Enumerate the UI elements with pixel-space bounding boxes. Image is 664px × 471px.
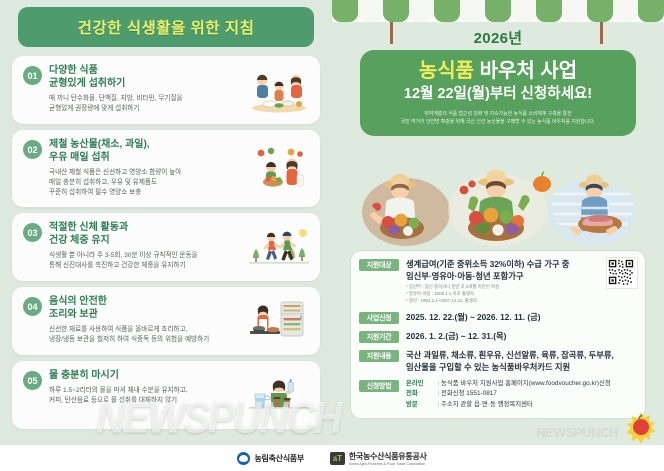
awning-stripe: [511, 0, 537, 22]
info-row-support-target: 지원대상 생계급여(기준 중위소득 32%이하) 수급 가구 중 임신부·영유아…: [359, 258, 637, 305]
apply-value-visit: 주소지 관할 읍·면·동 행정복지센터: [441, 400, 637, 410]
awning-stripe: [562, 0, 588, 22]
guideline-number-04: 04: [23, 297, 42, 316]
guideline-text-01: 다양한 식품 균형있게 섭취하기 매 끼니 탄수화물, 단백질, 지방, 비타민…: [49, 64, 243, 114]
guideline-list: 01 다양한 식품 균형있게 섭취하기 매 끼니 탄수화물, 단백질, 지방, …: [12, 56, 320, 429]
guideline-text-03: 적절한 신체 활동과 건강 체중 유지 식생활 뿐 아니라 주 3-5회, 30…: [49, 221, 243, 271]
family-eating-icon: [247, 67, 311, 113]
logo-at-name: 한국농수산식품유통공사: [349, 452, 427, 461]
campaign-title: 농식품 바우처 사업: [368, 59, 628, 83]
guideline-item-02: 02 제철 농산물(채소, 과일), 우유 매일 섭취 국내산 제철 식품은 신…: [12, 130, 320, 207]
guideline-title-02: 제철 농산물(채소, 과일), 우유 매일 섭취: [49, 138, 243, 164]
drinking-water-icon: [247, 372, 311, 418]
awning-stripe: [460, 0, 486, 22]
info-value-how-to-apply: 온라인 | 농식품 바우처 지원사업 홈페이지(www.foodvoucher.…: [406, 379, 637, 411]
awning-decoration: [332, 0, 664, 22]
info-note: * 임산부 : 임신 중이거나 분만 후 6개월 미만인 여성: [406, 284, 637, 291]
guideline-number-02: 02: [23, 140, 42, 159]
guideline-item-03: 03 적절한 신체 활동과 건강 체중 유지 식생활 뿐 아니라 주 3-5회,…: [12, 213, 320, 281]
cooking-refrigerator-icon: [247, 298, 311, 344]
info-main-support-target: 생계급여(기준 중위소득 32%이하) 수급 가구 중 임신부·영유아·아동·청…: [406, 258, 637, 282]
guideline-body-02: 국내산 제철 식품은 신선하고 영양소 함량이 높아 매일 충분히 섭취하고, …: [49, 168, 243, 198]
awning-stripe: [536, 0, 562, 22]
guideline-title-01: 다양한 식품 균형있게 섭취하기: [49, 64, 243, 90]
awning-stripe: [613, 0, 639, 22]
info-notes-support-target: * 임산부 : 임신 중이거나 분만 후 6개월 미만인 여성 * 영유아·아동…: [406, 284, 637, 304]
awning-stripe: [358, 0, 384, 22]
info-value-support-content: 국산 과일류, 채소류, 흰우유, 신선알류, 육류, 잡곡류, 두부류, 임산…: [406, 349, 637, 373]
campaign-title-box: 농식품 바우처 사업 12월 22일(월)부터 신청하세요! 취약계층의 식품 …: [360, 50, 636, 136]
taegeuk-icon: [237, 452, 250, 465]
info-label-support-content: 지원내용: [359, 350, 399, 362]
guideline-title-05: 물 충분히 마시기: [49, 369, 243, 382]
campaign-subtitle: 12월 22일(월)부터 신청하세요!: [368, 86, 628, 103]
guideline-title-03: 적절한 신체 활동과 건강 체중 유지: [49, 221, 243, 247]
program-info-card: 지원대상 생계급여(기준 중위소득 32%이하) 수급 가구 중 임신부·영유아…: [350, 250, 646, 419]
campaign-title-rest: 바우처 사업: [474, 60, 577, 82]
left-panel-title: 건강한 식생활을 위한 지침: [78, 16, 255, 38]
guideline-number-03: 03: [23, 223, 42, 242]
guideline-body-05: 하루 1.5~2리터의 물을 마셔 체내 수분을 유지하고, 커피, 탄산음료 …: [49, 386, 243, 406]
awning-scallops: [332, 0, 664, 22]
logo-ministry-label: 농림축산식품부: [254, 453, 303, 464]
info-label-support-target: 지원대상: [359, 259, 399, 271]
info-row-support-content: 지원내용 국산 과일류, 채소류, 흰우유, 신선알류, 육류, 잡곡류, 두부…: [359, 349, 637, 373]
logo-ministry-of-agriculture: 농림축산식품부: [237, 452, 303, 465]
logo-at-subtitle: Korea Agro-Fisheries & Food Trade Corpor…: [349, 462, 427, 466]
logo-at-corporation: aT 한국농수산식품유통공사 Korea Agro-Fisheries & Fo…: [330, 451, 427, 466]
apply-kind-visit: 방문: [406, 400, 436, 410]
campaign-year: 2026년: [332, 27, 664, 48]
left-panel-header: 건강한 식생활을 위한 지침: [18, 7, 314, 47]
campaign-title-highlight: 농식품: [419, 60, 474, 82]
apply-line-online: 온라인 | 농식품 바우처 지원사업 홈페이지(www.foodvoucher.…: [406, 379, 637, 389]
jogging-people-icon: [247, 224, 311, 270]
guideline-text-02: 제철 농산물(채소, 과일), 우유 매일 섭취 국내산 제철 식품은 신선하고…: [49, 138, 243, 198]
guideline-title-04: 음식의 안전한 조리와 보관: [49, 295, 243, 321]
awning-stripe: [383, 0, 409, 22]
info-row-application-period: 사업신청 2025. 12. 22.(월) ~ 2026. 12. 11. (금…: [359, 311, 637, 324]
info-value-support-period: 2026. 1. 2.(금) ~ 12. 31.(목): [406, 330, 637, 342]
info-value-application-period: 2025. 12. 22.(월) ~ 2026. 12. 11. (금): [406, 311, 637, 323]
info-label-how-to-apply: 신청방법: [359, 380, 399, 392]
right-panel: 2026년 농식품 바우처 사업 12월 22일(월)부터 신청하세요! 취약계…: [332, 0, 664, 471]
guideline-item-01: 01 다양한 식품 균형있게 섭취하기 매 끼니 탄수화물, 단백질, 지방, …: [12, 56, 320, 124]
awning-stripe: [587, 0, 613, 22]
campaign-description: 취약계층의 식품 접근성 강화 및 지속가능한 농식품 소비체계 구축을 통한 …: [370, 111, 626, 127]
guideline-text-04: 음식의 안전한 조리와 보관 신선한 재료를 사용하여 식품을 올바르게 조리하…: [49, 295, 243, 345]
guideline-number-01: 01: [23, 66, 42, 85]
guideline-item-04: 04 음식의 안전한 조리와 보관 신선한 재료를 사용하여 식품을 올바르게 …: [12, 287, 320, 355]
awning-stripe: [434, 0, 460, 22]
footer-logos: 농림축산식품부 aT 한국농수산식품유통공사 Korea Agro-Fisher…: [0, 445, 664, 471]
guideline-body-04: 신선한 재료를 사용하여 식품을 올바르게 조리하고, 냉장/냉동 보관을 철저…: [49, 325, 243, 345]
info-label-application-period: 사업신청: [359, 312, 399, 324]
qr-code-icon[interactable]: [606, 257, 638, 289]
info-row-how-to-apply: 신청방법 온라인 | 농식품 바우처 지원사업 홈페이지(www.foodvou…: [359, 379, 637, 411]
apply-kind-online: 온라인: [406, 379, 436, 389]
info-label-support-period: 지원기간: [359, 331, 399, 343]
guideline-text-05: 물 충분히 마시기 하루 1.5~2리터의 물을 마셔 체내 수분을 유지하고,…: [49, 369, 243, 406]
info-main-support-content: 국산 과일류, 채소류, 흰우유, 신선알류, 육류, 잡곡류, 두부류, 임산…: [406, 349, 637, 373]
at-icon: aT: [330, 452, 345, 465]
awning-stripe: [485, 0, 511, 22]
info-main-application-period: 2025. 12. 22.(월) ~ 2026. 12. 11. (금): [406, 311, 637, 323]
info-main-support-period: 2026. 1. 2.(금) ~ 12. 31.(목): [406, 330, 637, 342]
poster-root: 건강한 식생활을 위한 지침 01 다양한 식품 균형있게 섭취하기 매 끼니 …: [0, 0, 664, 471]
apply-line-visit: 방문 | 주소지 관할 읍·면·동 행정복지센터: [406, 400, 637, 410]
apply-value-online[interactable]: 농식품 바우처 지원사업 홈페이지(www.foodvoucher.go.kr)…: [441, 379, 637, 389]
logo-at-label: 한국농수산식품유통공사 Korea Agro-Fisheries & Food …: [349, 451, 427, 466]
apply-value-phone: 전화신청 1551-0817: [441, 389, 637, 399]
apply-kind-phone: 전화: [406, 389, 436, 399]
info-note: * 청년 : 1991.1.1~2007.12.31. 출생자: [406, 298, 637, 305]
apply-line-phone: 전화 | 전화신청 1551-0817: [406, 389, 637, 399]
info-note: * 영유아·아동 : 2006.1.1 이후 출생자: [406, 291, 637, 298]
awning-stripe: [638, 0, 664, 22]
farmers-illustration: [346, 168, 650, 246]
guideline-body-03: 식생활 뿐 아니라 주 3-5회, 30분 이상 규칙적인 운동을 통해 신진대…: [49, 251, 243, 271]
guideline-item-05: 05 물 충분히 마시기 하루 1.5~2리터의 물을 마셔 체내 수분을 유지…: [12, 361, 320, 429]
info-value-support-target: 생계급여(기준 중위소득 32%이하) 수급 가구 중 임신부·영유아·아동·청…: [406, 258, 637, 305]
info-row-support-period: 지원기간 2026. 1. 2.(금) ~ 12. 31.(목): [359, 330, 637, 343]
awning-stripe: [332, 0, 358, 22]
awning-stripe: [409, 0, 435, 22]
vegetables-family-icon: [247, 145, 311, 191]
guideline-number-05: 05: [23, 371, 42, 390]
guideline-body-01: 매 끼니 탄수화물, 단백질, 지방, 비타민, 무기질을 균형있게 권장량에 …: [49, 94, 243, 114]
left-panel: 건강한 식생활을 위한 지침 01 다양한 식품 균형있게 섭취하기 매 끼니 …: [0, 0, 332, 471]
